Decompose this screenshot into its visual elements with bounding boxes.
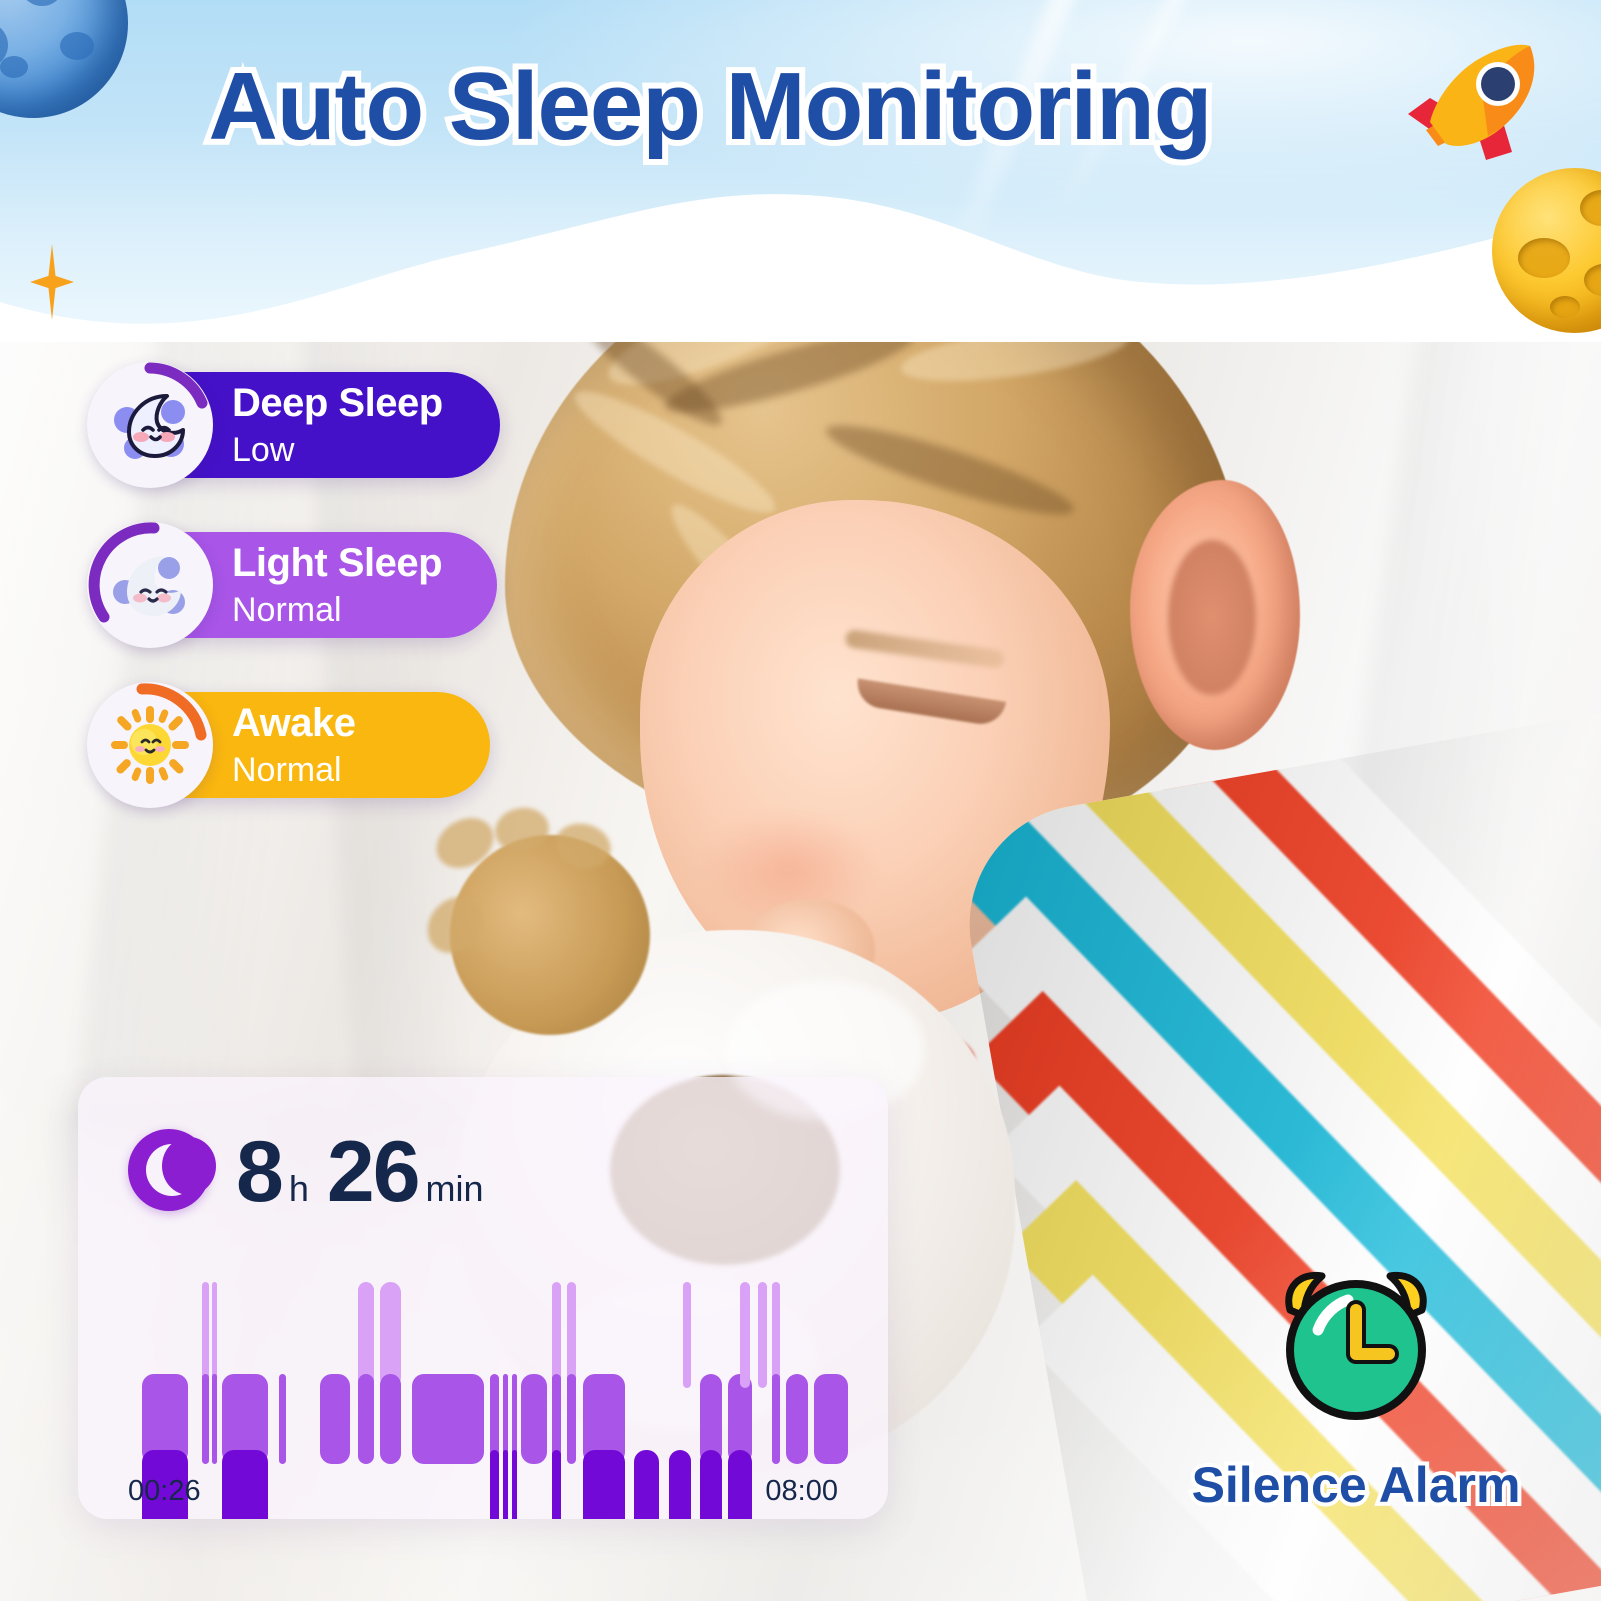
hours-unit: h: [289, 1168, 309, 1210]
deep-sleep-icon-ring: [87, 362, 213, 488]
chart-bar-light: [212, 1374, 217, 1464]
chart-bar-awake: [212, 1282, 217, 1388]
sleep-stage-deep[interactable]: Deep Sleep Low: [100, 372, 500, 478]
sleep-summary-card[interactable]: 8 h 26 min 00:26 08:00: [78, 1077, 888, 1519]
smiling-sun-icon: [105, 700, 195, 790]
silence-alarm-feature[interactable]: Silence Alarm: [1176, 1258, 1536, 1514]
awake-text: Awake Normal: [232, 703, 356, 787]
sleep-stage-legend: Deep Sleep Low: [100, 372, 500, 852]
alarm-clock-wrap: [1256, 1258, 1456, 1438]
light-sleep-icon-ring: [87, 522, 213, 648]
sleep-duration: 8 h 26 min: [128, 1129, 502, 1211]
duration-minutes: 26: [327, 1134, 419, 1211]
chart-bar-light: [772, 1374, 780, 1464]
chart-bar-awake: [552, 1282, 561, 1388]
light-sleep-value: Normal: [232, 593, 442, 627]
chart-bar-awake: [358, 1282, 374, 1388]
silence-alarm-label: Silence Alarm: [1176, 1456, 1536, 1514]
awake-label: Awake: [232, 703, 356, 743]
chart-bar-light: [202, 1374, 209, 1464]
duration-text: 8 h 26 min: [236, 1134, 502, 1211]
light-sleep-text: Light Sleep Normal: [232, 543, 442, 627]
wave-divider: [0, 152, 1601, 342]
chart-bar-light: [814, 1374, 848, 1464]
chart-bar-awake: [567, 1282, 576, 1388]
deep-sleep-label: Deep Sleep: [232, 383, 443, 423]
minutes-unit: min: [426, 1168, 484, 1210]
chart-bar-light: [320, 1374, 350, 1464]
chart-bar-light: [521, 1374, 547, 1464]
light-sleep-label: Light Sleep: [232, 543, 442, 583]
poster-canvas: Auto Sleep Monitoring: [0, 0, 1601, 1601]
chart-bar-light: [567, 1374, 576, 1464]
alarm-clock-icon: [1256, 1258, 1456, 1438]
chart-bar-awake: [202, 1282, 209, 1388]
chart-bar-light: [380, 1374, 401, 1464]
chart-bar-awake: [683, 1282, 691, 1388]
duration-hours: 8: [236, 1134, 282, 1211]
chart-bar-light: [786, 1374, 808, 1464]
deep-sleep-value: Low: [232, 433, 443, 467]
sleep-stage-awake[interactable]: Awake Normal: [100, 692, 490, 798]
moon-badge-icon: [128, 1129, 210, 1211]
chart-bar-light: [279, 1374, 286, 1464]
sleeping-moon-icon: [105, 380, 195, 470]
chart-bar-awake: [772, 1282, 780, 1388]
sleep-timeline-chart[interactable]: [124, 1282, 844, 1464]
crescent-moon-icon: [105, 540, 195, 630]
page-title: Auto Sleep Monitoring: [0, 52, 1420, 162]
chart-bar-awake: [380, 1282, 401, 1388]
chart-time-axis: 00:26 08:00: [128, 1475, 838, 1508]
header-banner: Auto Sleep Monitoring: [0, 0, 1601, 340]
awake-value: Normal: [232, 753, 356, 787]
chart-bar-light: [412, 1374, 484, 1464]
sleep-stage-light[interactable]: Light Sleep Normal: [100, 532, 497, 638]
chart-start-time: 00:26: [128, 1475, 201, 1508]
chart-bar-light: [358, 1374, 374, 1464]
deep-sleep-text: Deep Sleep Low: [232, 383, 443, 467]
chart-bar-awake: [740, 1282, 750, 1388]
chart-end-time: 08:00: [765, 1475, 838, 1508]
chart-bar-awake: [758, 1282, 767, 1388]
awake-icon-ring: [87, 682, 213, 808]
